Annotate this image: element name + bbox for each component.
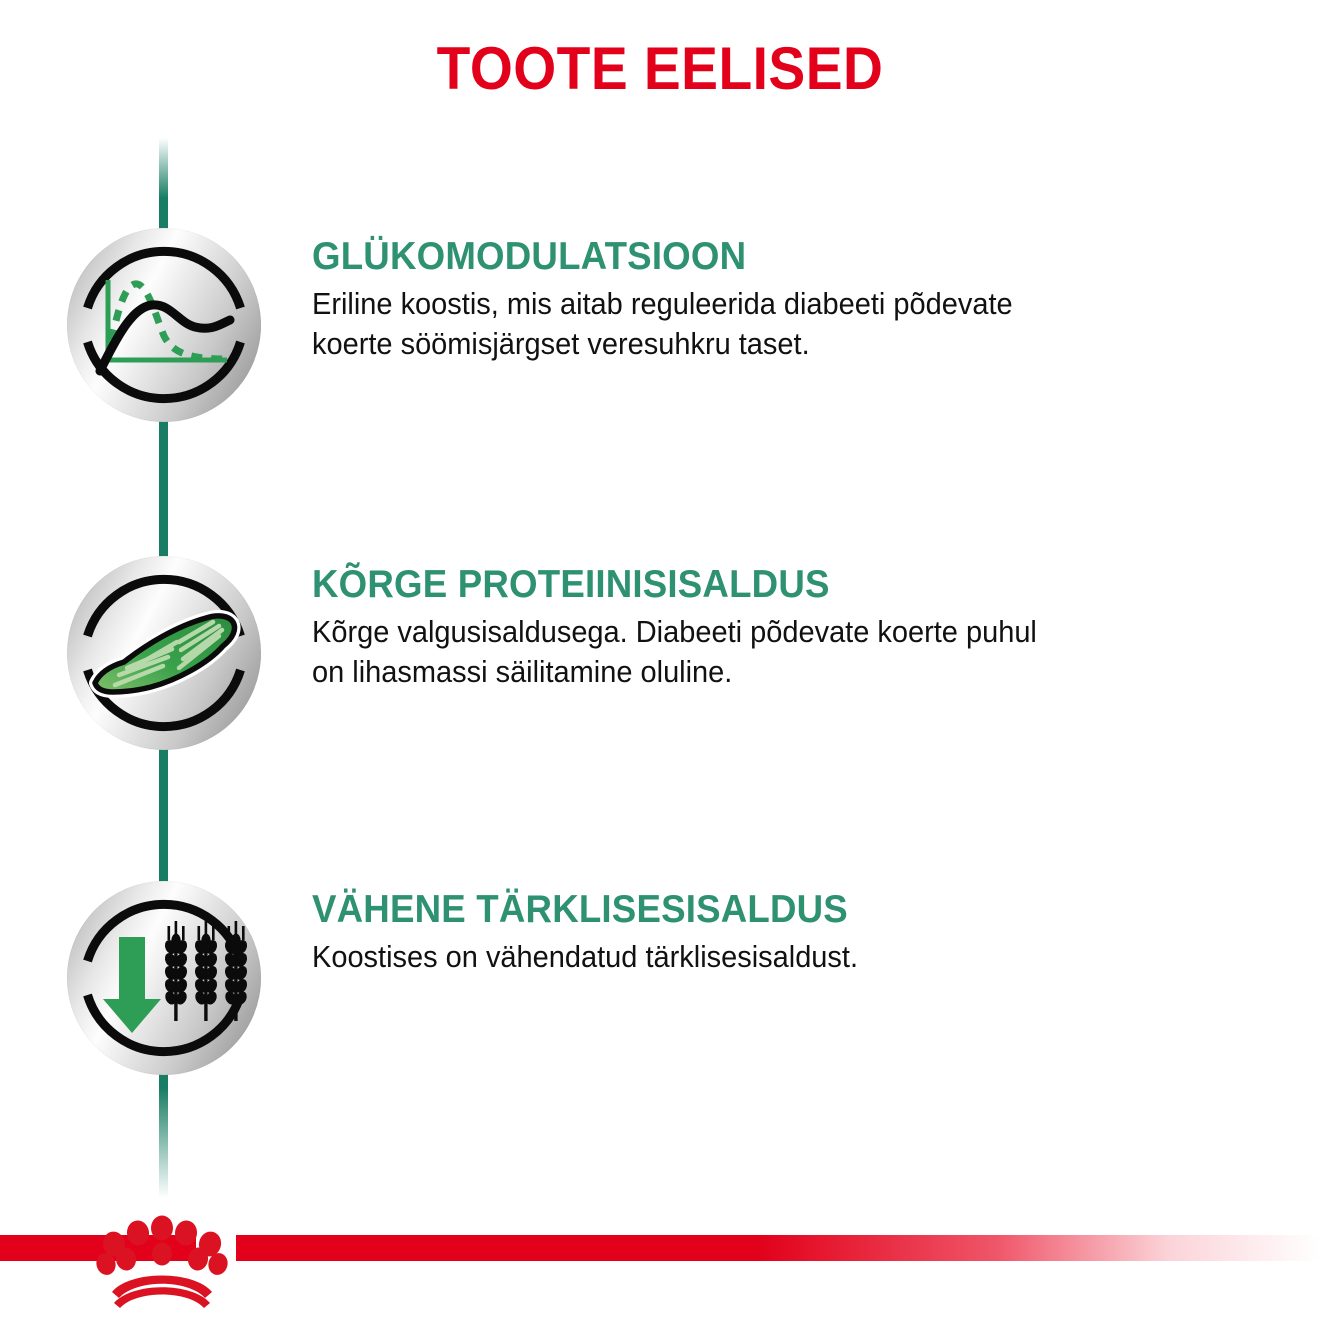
feature-body-line: Eriline koostis, mis aitab reguleerida d… (312, 284, 1215, 325)
product-benefits-page: TOOTE EELISED G (0, 0, 1320, 1320)
feature-body: Eriline koostis, mis aitab reguleerida d… (312, 284, 1215, 365)
feature-body: Koostises on vähendatud tärklisesisaldus… (312, 937, 1215, 978)
feature-body-line: Kõrge valgusisaldusega. Diabeeti põdevat… (312, 612, 1215, 653)
royal-canin-crown-logo (92, 1206, 232, 1310)
page-title: TOOTE EELISED (53, 34, 1267, 103)
feature-text-block: GLÜKOMODULATSIOON Eriline koostis, mis a… (312, 236, 1262, 365)
glucose-curve-icon (67, 228, 261, 422)
feature-body-line: Koostises on vähendatud tärklisesisaldus… (312, 937, 1215, 978)
feature-text-block: VÄHENE TÄRKLISESISALDUS Koostises on väh… (312, 889, 1262, 977)
feature-heading: VÄHENE TÄRKLISESISALDUS (312, 889, 1205, 931)
feature-text-block: KÕRGE PROTEIINISISALDUS Kõrge valgusisal… (312, 564, 1262, 693)
feature-body-line: koerte söömisjärgset veresuhkru taset. (312, 324, 1215, 365)
feature-heading: KÕRGE PROTEIINISISALDUS (312, 564, 1205, 606)
down-arrow-shape (103, 937, 161, 1033)
feature-body-line: on lihasmassi säilitamine oluline. (312, 652, 1215, 693)
feature-body: Kõrge valgusisaldusega. Diabeeti põdevat… (312, 612, 1215, 693)
footer-bar-right (236, 1235, 1320, 1261)
feature-heading: GLÜKOMODULATSIOON (312, 236, 1205, 278)
low-starch-wheat-arrow-icon (67, 881, 261, 1075)
muscle-icon (67, 556, 261, 750)
footer (0, 1200, 1320, 1320)
wheat-stalks (163, 921, 249, 1021)
